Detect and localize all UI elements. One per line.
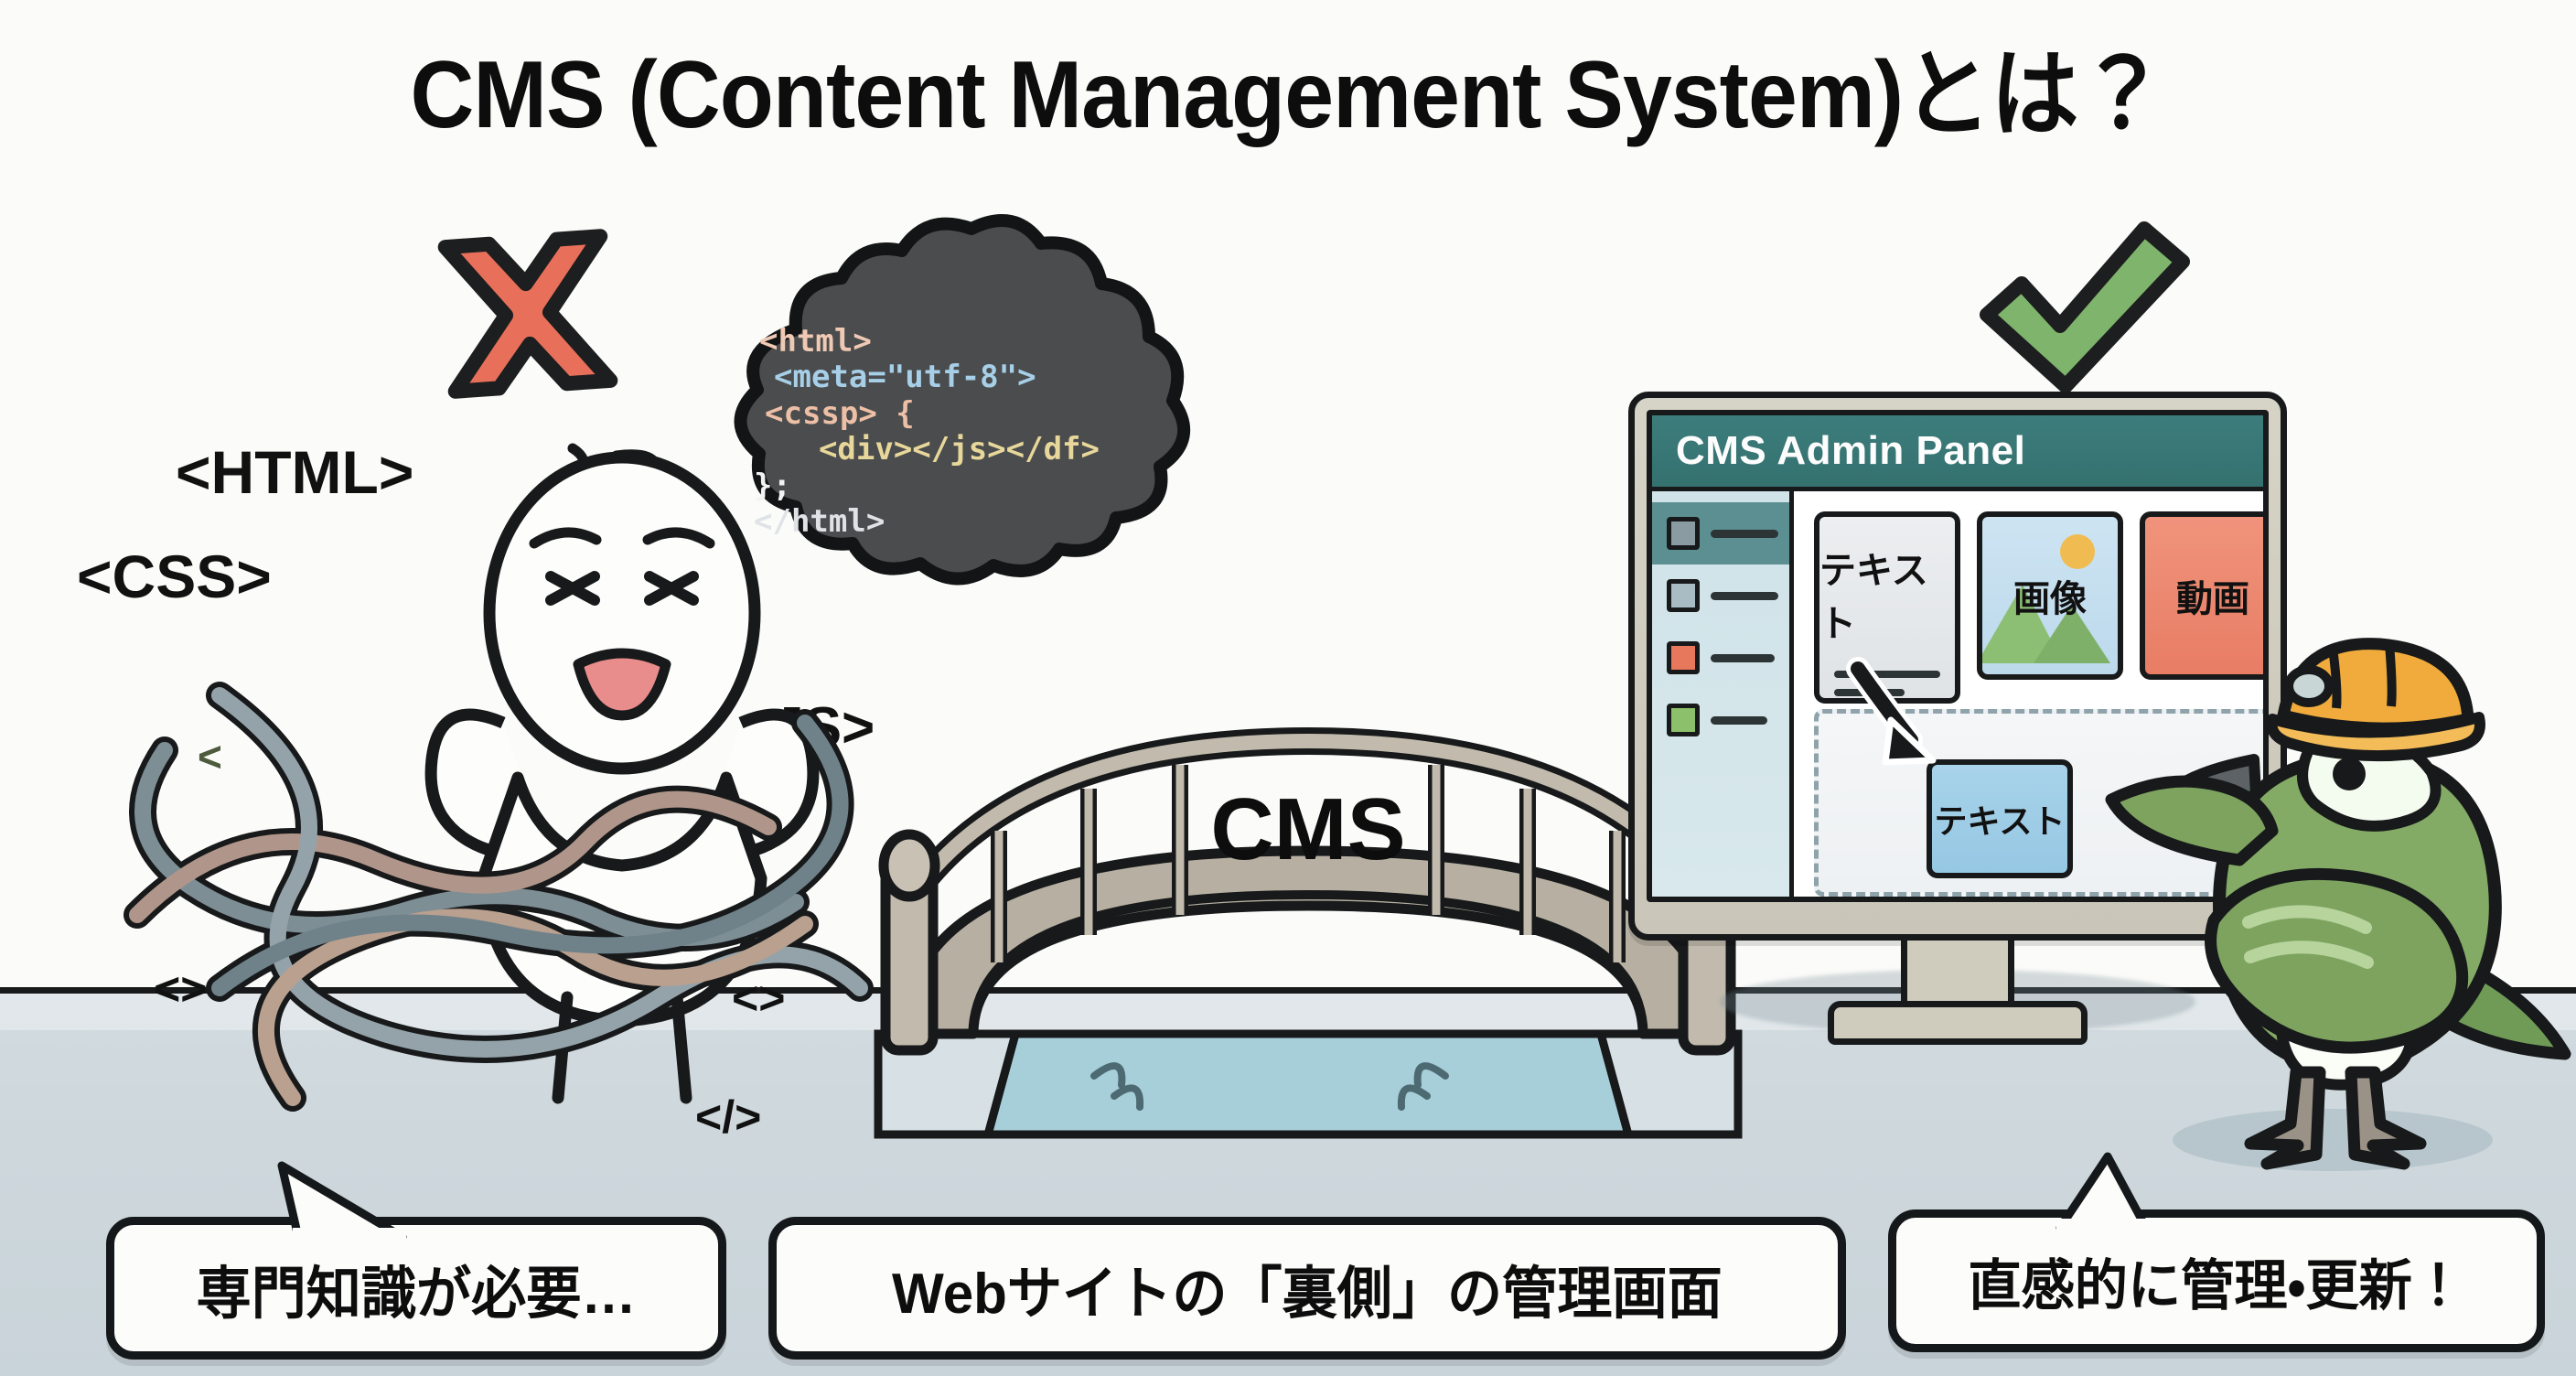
green-bird-mascot — [2104, 631, 2576, 1180]
caption-right-text: 直感的に管理・更新！ — [1968, 1242, 2465, 1321]
tangled-cables — [110, 640, 896, 1153]
caption-bubble-left: 専門知識が必要… — [106, 1217, 726, 1360]
admin-panel-titlebar: CMS Admin Panel — [1652, 415, 2263, 491]
sidebar-swatch-2 — [1667, 579, 1700, 612]
sidebar-item-2[interactable] — [1652, 564, 1789, 627]
widget-text-label: テキスト — [1819, 541, 1955, 647]
sidebar-label-3 — [1711, 654, 1775, 662]
caption-bubble-left-tail — [265, 1160, 421, 1237]
sidebar-item-1[interactable] — [1652, 502, 1789, 564]
sidebar-item-4[interactable] — [1652, 689, 1789, 751]
bridge-label: CMS — [878, 779, 1738, 880]
monitor-foot — [1828, 1001, 2088, 1045]
monitor-neck — [1901, 941, 2014, 1006]
sidebar-swatch-3 — [1667, 641, 1700, 674]
caption-bubble-right: 直感的に管理・更新！ — [1888, 1209, 2545, 1352]
widget-image[interactable]: 画像 — [1977, 511, 2123, 680]
check-mark-icon — [1965, 212, 2203, 404]
widget-image-label: 画像 — [2013, 569, 2087, 622]
admin-sidebar — [1652, 491, 1794, 897]
sidebar-label-4 — [1711, 716, 1767, 725]
widget-video-label: 動画 — [2176, 569, 2249, 622]
drag-arrow-icon — [1843, 660, 1980, 779]
sidebar-label-2 — [1711, 592, 1778, 600]
code-line-1: <html> — [754, 324, 1147, 360]
caption-left-text: 専門知識が必要… — [196, 1247, 636, 1329]
cross-mark-icon — [413, 218, 642, 410]
sidebar-label-1 — [1711, 530, 1778, 538]
caption-bubble-center: Webサイトの「裏側」の管理画面 — [768, 1217, 1846, 1360]
sidebar-swatch-4 — [1667, 704, 1700, 736]
sidebar-item-3[interactable] — [1652, 627, 1789, 689]
code-line-2: <meta="utf-8"> — [754, 360, 1147, 395]
dragged-text-chip-label: テキスト — [1935, 795, 2066, 843]
code-line-3: <cssp> { — [754, 396, 1147, 432]
admin-panel-title: CMS Admin Panel — [1676, 428, 2025, 474]
code-tag-css: <CSS> — [77, 542, 272, 611]
caption-center-text: Webサイトの「裏側」の管理画面 — [892, 1247, 1723, 1329]
caption-bubble-right-tail — [2020, 1151, 2175, 1228]
sidebar-swatch-1 — [1667, 517, 1700, 550]
infographic-canvas: CMS (Content Management System)とは？ <HTML… — [0, 0, 2576, 1376]
page-title: CMS (Content Management System)とは？ — [91, 16, 2486, 155]
